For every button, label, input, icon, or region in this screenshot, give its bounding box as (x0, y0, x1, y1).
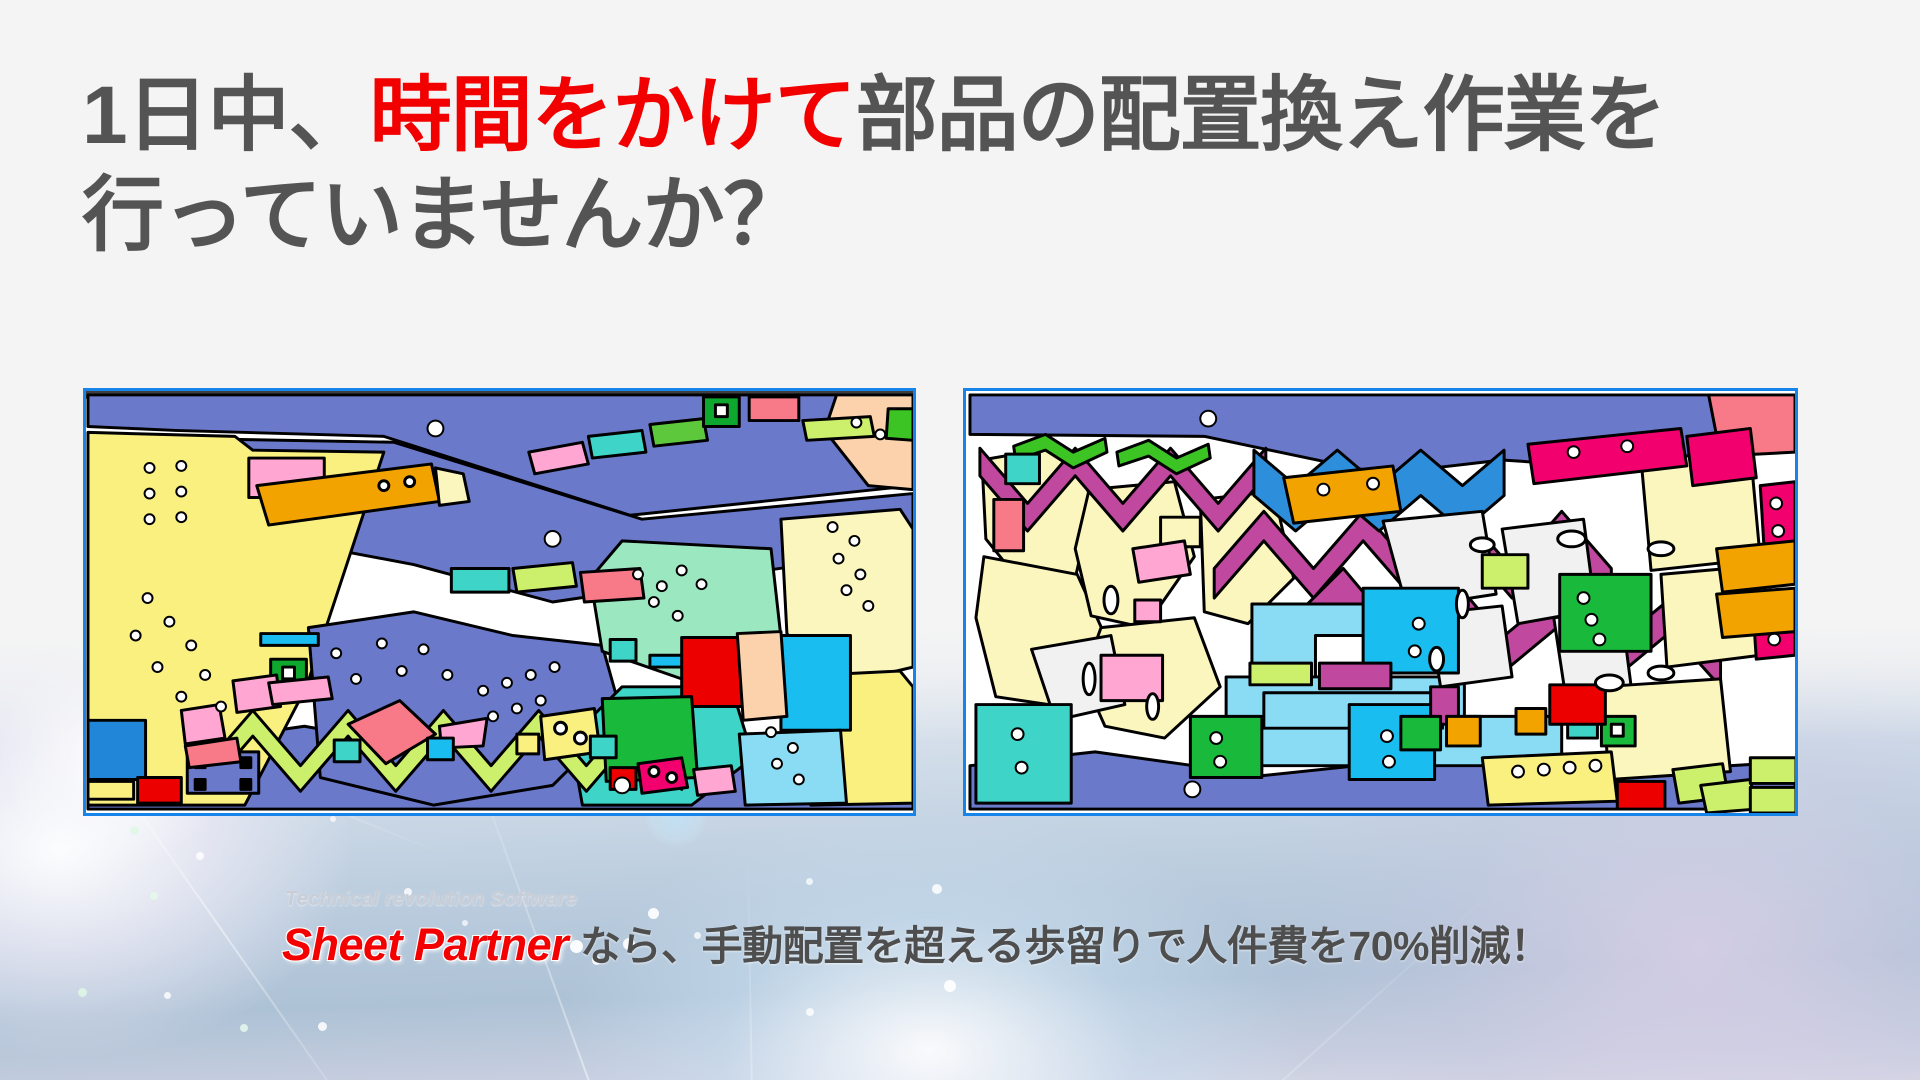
headline-highlight: 時間をかけて (370, 70, 856, 161)
sparkle-dot (806, 878, 813, 885)
headline-part-2: 部品の配置換え作業を (856, 70, 1666, 161)
caption-message: なら、手動配置を超える歩留りで人件費を70%削減！ (580, 912, 1550, 972)
sparkle-dot (240, 1024, 248, 1032)
footer-caption: Technical revolution Software Sheet Part… (282, 888, 1550, 972)
sparkle-dot (130, 826, 139, 835)
sparkle-dot (150, 892, 158, 900)
automatic-nesting-diagram[interactable] (963, 388, 1798, 816)
sparkle-dot (318, 1022, 327, 1031)
headline-part-1: 1日中、 (82, 70, 370, 161)
manual-nesting-svg (86, 391, 913, 813)
product-tagline: Technical revolution Software (285, 888, 1550, 911)
product-brand-name: Sheet Partner (282, 919, 568, 971)
sparkle-dot (196, 852, 204, 860)
sparkle-dot (944, 980, 956, 992)
sparkle-dot (164, 992, 171, 999)
sparkle-dot (806, 1008, 814, 1016)
headline-line-2: 行っていませんか？ (82, 166, 1882, 266)
caption-line: Sheet Partner なら、手動配置を超える歩留りで人件費を70%削減！ (282, 912, 1550, 972)
sparkle-dot (330, 816, 336, 822)
manual-nesting-diagram[interactable] (83, 388, 916, 816)
sparkle-dot (78, 988, 87, 997)
page-title: 1日中、時間をかけて部品の配置換え作業を 行っていませんか？ (82, 66, 1882, 266)
automatic-nesting-svg (966, 391, 1795, 813)
